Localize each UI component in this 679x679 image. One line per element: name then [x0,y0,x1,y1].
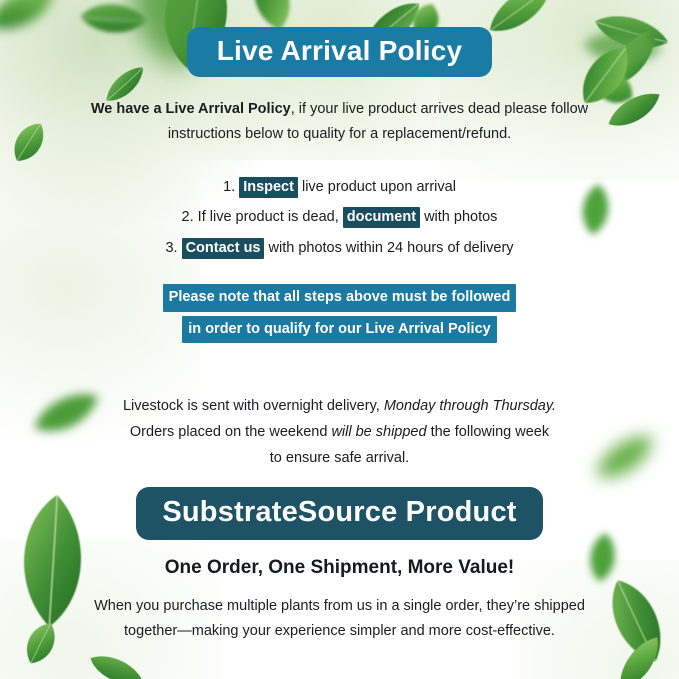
step-pre-text: If live product is dead, [198,209,339,225]
step-post-text: with photos [424,209,497,225]
shipping-line2-a: Orders placed on the weekend [130,424,328,440]
shipping-line2-b: will be shipped [331,424,426,440]
policy-steps-list: 1. Inspect live product upon arrival 2. … [60,176,620,260]
list-item: 1. Inspect live product upon arrival [60,176,620,199]
live-arrival-policy-section: Live Arrival Policy We have a Live Arriv… [0,27,679,472]
product-banner-row: SubstrateSource Product [0,487,679,540]
live-arrival-policy-banner: Live Arrival Policy [187,27,493,77]
step-number: 2. [182,209,194,225]
policy-notice-line-2: in order to qualify for our Live Arrival… [182,316,496,343]
policy-intro-line2: instructions below to quality for a repl… [168,126,511,142]
step-post-text: live product upon arrival [302,179,456,195]
substratesource-product-section: SubstrateSource Product One Order, One S… [0,487,679,645]
step-post-text: with photos within 24 hours of delivery [269,240,514,256]
step-number: 1. [223,179,235,195]
shipping-line2-c: the following week [431,424,550,440]
policy-intro-lead: We have a Live Arrival Policy [91,101,291,117]
product-body-line-1: When you purchase multiple plants from u… [94,598,585,614]
product-body-paragraph: When you purchase multiple plants from u… [70,594,610,645]
policy-banner-row: Live Arrival Policy [0,27,679,77]
promo-banner-image: Live Arrival Policy We have a Live Arriv… [0,0,679,679]
step-highlight: document [343,207,420,228]
shipping-line1-b: Monday through Thursday. [384,398,556,414]
policy-intro-rest: , if your live product arrives dead plea… [291,101,588,117]
policy-notice-line-1: Please note that all steps above must be… [163,284,517,311]
list-item: 2. If live product is dead, document wit… [60,206,620,229]
step-highlight: Inspect [239,177,298,198]
step-number: 3. [165,240,177,256]
shipping-schedule-paragraph: Livestock is sent with overnight deliver… [60,394,620,471]
policy-intro-paragraph: We have a Live Arrival Policy, if your l… [70,97,610,148]
product-subheading: One Order, One Shipment, More Value! [40,557,640,580]
product-body-line-2: together—making your experience simpler … [124,623,555,639]
list-item: 3. Contact us with photos within 24 hour… [60,237,620,260]
substratesource-product-banner: SubstrateSource Product [136,487,542,540]
shipping-line3: to ensure safe arrival. [270,450,409,466]
policy-notice-block: Please note that all steps above must be… [60,284,620,347]
step-highlight: Contact us [182,238,265,259]
shipping-line1-a: Livestock is sent with overnight deliver… [123,398,380,414]
